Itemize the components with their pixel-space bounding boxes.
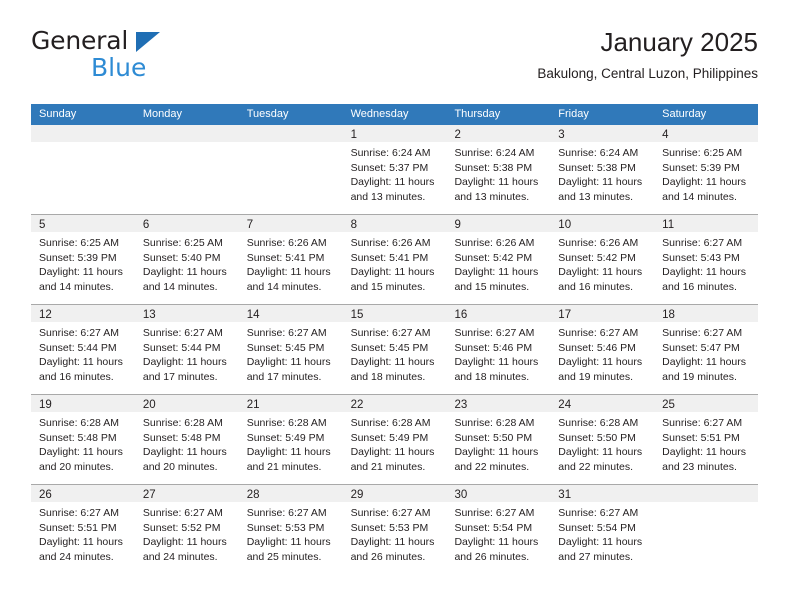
daylight-line-2: and 13 minutes.: [351, 190, 440, 205]
daylight-line-2: and 15 minutes.: [454, 280, 543, 295]
weekday-saturday: Saturday: [654, 104, 758, 125]
day-number: 1: [351, 129, 357, 141]
sunset-line: Sunset: 5:49 PM: [247, 431, 336, 446]
sunset-line: Sunset: 5:50 PM: [558, 431, 647, 446]
day-details: Sunrise: 6:28 AM Sunset: 5:50 PM Dayligh…: [550, 412, 654, 474]
daylight-line-1: Daylight: 11 hours: [662, 265, 751, 280]
calendar-grid: Sunday Monday Tuesday Wednesday Thursday…: [31, 104, 758, 574]
sunrise-line: Sunrise: 6:27 AM: [662, 236, 751, 251]
day-number: 4: [662, 129, 668, 141]
sunrise-line: Sunrise: 6:27 AM: [454, 506, 543, 521]
day-number: 14: [247, 309, 260, 321]
sunrise-line: Sunrise: 6:28 AM: [143, 416, 232, 431]
day-number-strip: 29: [343, 485, 447, 502]
calendar-page: General Blue January 2025 Bakulong, Cent…: [0, 0, 792, 612]
daylight-line-1: Daylight: 11 hours: [351, 175, 440, 190]
day-number-strip: 2: [446, 125, 550, 142]
sunrise-line: Sunrise: 6:26 AM: [351, 236, 440, 251]
day-number-strip: 10: [550, 215, 654, 232]
daylight-line-2: and 23 minutes.: [662, 460, 751, 475]
weekday-tuesday: Tuesday: [239, 104, 343, 125]
daylight-line-2: and 20 minutes.: [39, 460, 128, 475]
day-details: Sunrise: 6:27 AM Sunset: 5:46 PM Dayligh…: [550, 322, 654, 384]
day-number-strip: 28: [239, 485, 343, 502]
sunset-line: Sunset: 5:44 PM: [143, 341, 232, 356]
daylight-line-2: and 18 minutes.: [351, 370, 440, 385]
day-cell[interactable]: 30 Sunrise: 6:27 AM Sunset: 5:54 PM Dayl…: [446, 485, 550, 574]
daylight-line-2: and 16 minutes.: [662, 280, 751, 295]
weekday-wednesday: Wednesday: [343, 104, 447, 125]
sunrise-line: Sunrise: 6:27 AM: [558, 506, 647, 521]
day-cell[interactable]: 20 Sunrise: 6:28 AM Sunset: 5:48 PM Dayl…: [135, 395, 239, 484]
day-number-strip: 23: [446, 395, 550, 412]
day-cell[interactable]: 21 Sunrise: 6:28 AM Sunset: 5:49 PM Dayl…: [239, 395, 343, 484]
sunset-line: Sunset: 5:40 PM: [143, 251, 232, 266]
daylight-line-1: Daylight: 11 hours: [662, 355, 751, 370]
day-number: 24: [558, 399, 571, 411]
sunset-line: Sunset: 5:41 PM: [247, 251, 336, 266]
day-number: 18: [662, 309, 675, 321]
sunrise-line: Sunrise: 6:26 AM: [558, 236, 647, 251]
daylight-line-2: and 20 minutes.: [143, 460, 232, 475]
sunrise-line: Sunrise: 6:27 AM: [39, 506, 128, 521]
sunset-line: Sunset: 5:54 PM: [558, 521, 647, 536]
day-details: Sunrise: 6:25 AM Sunset: 5:39 PM Dayligh…: [31, 232, 135, 294]
day-details: Sunrise: 6:27 AM Sunset: 5:44 PM Dayligh…: [31, 322, 135, 384]
daylight-line-1: Daylight: 11 hours: [454, 355, 543, 370]
sunset-line: Sunset: 5:42 PM: [454, 251, 543, 266]
day-cell[interactable]: 29 Sunrise: 6:27 AM Sunset: 5:53 PM Dayl…: [343, 485, 447, 574]
daylight-line-1: Daylight: 11 hours: [558, 175, 647, 190]
daylight-line-1: Daylight: 11 hours: [143, 535, 232, 550]
day-cell[interactable]: 4 Sunrise: 6:25 AM Sunset: 5:39 PM Dayli…: [654, 125, 758, 214]
day-cell[interactable]: 18 Sunrise: 6:27 AM Sunset: 5:47 PM Dayl…: [654, 305, 758, 394]
daylight-line-2: and 14 minutes.: [662, 190, 751, 205]
day-number: 31: [558, 489, 571, 501]
day-cell[interactable]: 17 Sunrise: 6:27 AM Sunset: 5:46 PM Dayl…: [550, 305, 654, 394]
day-number: 22: [351, 399, 364, 411]
daylight-line-1: Daylight: 11 hours: [247, 265, 336, 280]
triangle-icon: [136, 32, 160, 52]
day-details: Sunrise: 6:27 AM Sunset: 5:52 PM Dayligh…: [135, 502, 239, 564]
sunset-line: Sunset: 5:38 PM: [454, 161, 543, 176]
day-cell[interactable]: 10 Sunrise: 6:26 AM Sunset: 5:42 PM Dayl…: [550, 215, 654, 304]
sunrise-line: Sunrise: 6:27 AM: [351, 326, 440, 341]
day-number-strip: 4: [654, 125, 758, 142]
daylight-line-1: Daylight: 11 hours: [143, 265, 232, 280]
day-details: Sunrise: 6:26 AM Sunset: 5:42 PM Dayligh…: [446, 232, 550, 294]
sunset-line: Sunset: 5:49 PM: [351, 431, 440, 446]
day-number: 2: [454, 129, 460, 141]
day-number-strip: 1: [343, 125, 447, 142]
day-details: Sunrise: 6:26 AM Sunset: 5:41 PM Dayligh…: [239, 232, 343, 294]
day-cell[interactable]: 22 Sunrise: 6:28 AM Sunset: 5:49 PM Dayl…: [343, 395, 447, 484]
sunset-line: Sunset: 5:46 PM: [558, 341, 647, 356]
daylight-line-2: and 19 minutes.: [662, 370, 751, 385]
day-cell[interactable]: 5 Sunrise: 6:25 AM Sunset: 5:39 PM Dayli…: [31, 215, 135, 304]
daylight-line-1: Daylight: 11 hours: [143, 445, 232, 460]
sunrise-line: Sunrise: 6:24 AM: [558, 146, 647, 161]
day-details: Sunrise: 6:24 AM Sunset: 5:38 PM Dayligh…: [550, 142, 654, 204]
sunrise-line: Sunrise: 6:28 AM: [454, 416, 543, 431]
daylight-line-2: and 18 minutes.: [454, 370, 543, 385]
day-cell[interactable]: 2 Sunrise: 6:24 AM Sunset: 5:38 PM Dayli…: [446, 125, 550, 214]
weekday-sunday: Sunday: [31, 104, 135, 125]
page-header: General Blue January 2025 Bakulong, Cent…: [31, 26, 758, 96]
day-details: Sunrise: 6:27 AM Sunset: 5:44 PM Dayligh…: [135, 322, 239, 384]
day-number: 19: [39, 399, 52, 411]
day-number-strip: [654, 485, 758, 502]
day-details: Sunrise: 6:27 AM Sunset: 5:47 PM Dayligh…: [654, 322, 758, 384]
sunrise-line: Sunrise: 6:26 AM: [454, 236, 543, 251]
day-number-strip: 27: [135, 485, 239, 502]
sunrise-line: Sunrise: 6:28 AM: [247, 416, 336, 431]
daylight-line-1: Daylight: 11 hours: [454, 445, 543, 460]
sunrise-line: Sunrise: 6:27 AM: [143, 326, 232, 341]
daylight-line-2: and 26 minutes.: [351, 550, 440, 565]
daylight-line-2: and 22 minutes.: [558, 460, 647, 475]
sunrise-line: Sunrise: 6:28 AM: [39, 416, 128, 431]
daylight-line-2: and 24 minutes.: [143, 550, 232, 565]
day-cell[interactable]: 1 Sunrise: 6:24 AM Sunset: 5:37 PM Dayli…: [343, 125, 447, 214]
day-cell[interactable]: 24 Sunrise: 6:28 AM Sunset: 5:50 PM Dayl…: [550, 395, 654, 484]
day-cell[interactable]: 9 Sunrise: 6:26 AM Sunset: 5:42 PM Dayli…: [446, 215, 550, 304]
daylight-line-1: Daylight: 11 hours: [39, 445, 128, 460]
daylight-line-2: and 13 minutes.: [454, 190, 543, 205]
day-number: 6: [143, 219, 149, 231]
day-details: Sunrise: 6:27 AM Sunset: 5:54 PM Dayligh…: [550, 502, 654, 564]
day-cell[interactable]: 27 Sunrise: 6:27 AM Sunset: 5:52 PM Dayl…: [135, 485, 239, 574]
sunrise-line: Sunrise: 6:27 AM: [39, 326, 128, 341]
day-number-strip: 13: [135, 305, 239, 322]
day-number: 26: [39, 489, 52, 501]
sunset-line: Sunset: 5:51 PM: [662, 431, 751, 446]
day-number: 3: [558, 129, 564, 141]
day-number-strip: 7: [239, 215, 343, 232]
sunset-line: Sunset: 5:48 PM: [143, 431, 232, 446]
week-row: 1 Sunrise: 6:24 AM Sunset: 5:37 PM Dayli…: [31, 125, 758, 214]
sunset-line: Sunset: 5:50 PM: [454, 431, 543, 446]
sunset-line: Sunset: 5:45 PM: [351, 341, 440, 356]
day-number: 11: [662, 219, 674, 231]
daylight-line-1: Daylight: 11 hours: [454, 535, 543, 550]
day-number: 16: [454, 309, 467, 321]
sunset-line: Sunset: 5:53 PM: [247, 521, 336, 536]
day-cell[interactable]: 19 Sunrise: 6:28 AM Sunset: 5:48 PM Dayl…: [31, 395, 135, 484]
day-number-strip: 22: [343, 395, 447, 412]
sunset-line: Sunset: 5:41 PM: [351, 251, 440, 266]
day-cell[interactable]: 12 Sunrise: 6:27 AM Sunset: 5:44 PM Dayl…: [31, 305, 135, 394]
day-cell[interactable]: [654, 485, 758, 574]
daylight-line-2: and 19 minutes.: [558, 370, 647, 385]
sunrise-line: Sunrise: 6:25 AM: [39, 236, 128, 251]
page-title: January 2025: [537, 26, 758, 58]
day-number: 8: [351, 219, 357, 231]
day-number-strip: 30: [446, 485, 550, 502]
day-number: 28: [247, 489, 260, 501]
daylight-line-2: and 21 minutes.: [351, 460, 440, 475]
week-row: 19 Sunrise: 6:28 AM Sunset: 5:48 PM Dayl…: [31, 394, 758, 484]
daylight-line-2: and 22 minutes.: [454, 460, 543, 475]
day-number-strip: 9: [446, 215, 550, 232]
day-details: Sunrise: 6:24 AM Sunset: 5:38 PM Dayligh…: [446, 142, 550, 204]
daylight-line-1: Daylight: 11 hours: [558, 355, 647, 370]
day-number-strip: 19: [31, 395, 135, 412]
sunset-line: Sunset: 5:53 PM: [351, 521, 440, 536]
day-cell[interactable]: 26 Sunrise: 6:27 AM Sunset: 5:51 PM Dayl…: [31, 485, 135, 574]
day-cell[interactable]: 13 Sunrise: 6:27 AM Sunset: 5:44 PM Dayl…: [135, 305, 239, 394]
sunrise-line: Sunrise: 6:25 AM: [143, 236, 232, 251]
day-details: Sunrise: 6:27 AM Sunset: 5:54 PM Dayligh…: [446, 502, 550, 564]
day-number: 23: [454, 399, 467, 411]
day-details: Sunrise: 6:27 AM Sunset: 5:45 PM Dayligh…: [239, 322, 343, 384]
day-details: Sunrise: 6:28 AM Sunset: 5:48 PM Dayligh…: [31, 412, 135, 474]
day-details: Sunrise: 6:27 AM Sunset: 5:53 PM Dayligh…: [239, 502, 343, 564]
day-cell[interactable]: 23 Sunrise: 6:28 AM Sunset: 5:50 PM Dayl…: [446, 395, 550, 484]
sunset-line: Sunset: 5:46 PM: [454, 341, 543, 356]
day-cell[interactable]: 7 Sunrise: 6:26 AM Sunset: 5:41 PM Dayli…: [239, 215, 343, 304]
sunrise-line: Sunrise: 6:27 AM: [454, 326, 543, 341]
daylight-line-1: Daylight: 11 hours: [351, 535, 440, 550]
sunset-line: Sunset: 5:44 PM: [39, 341, 128, 356]
daylight-line-1: Daylight: 11 hours: [247, 535, 336, 550]
day-number: 9: [454, 219, 460, 231]
daylight-line-2: and 16 minutes.: [558, 280, 647, 295]
day-cell[interactable]: 15 Sunrise: 6:27 AM Sunset: 5:45 PM Dayl…: [343, 305, 447, 394]
sunset-line: Sunset: 5:37 PM: [351, 161, 440, 176]
daylight-line-1: Daylight: 11 hours: [662, 445, 751, 460]
week-row: 26 Sunrise: 6:27 AM Sunset: 5:51 PM Dayl…: [31, 484, 758, 574]
daylight-line-2: and 15 minutes.: [351, 280, 440, 295]
day-details: Sunrise: 6:25 AM Sunset: 5:40 PM Dayligh…: [135, 232, 239, 294]
sunrise-line: Sunrise: 6:25 AM: [662, 146, 751, 161]
sunrise-line: Sunrise: 6:28 AM: [351, 416, 440, 431]
day-number: 15: [351, 309, 364, 321]
day-number: 5: [39, 219, 45, 231]
daylight-line-1: Daylight: 11 hours: [454, 265, 543, 280]
day-number-strip: 5: [31, 215, 135, 232]
day-details: Sunrise: 6:28 AM Sunset: 5:50 PM Dayligh…: [446, 412, 550, 474]
day-number: 29: [351, 489, 364, 501]
sunrise-line: Sunrise: 6:27 AM: [247, 506, 336, 521]
day-details: Sunrise: 6:27 AM Sunset: 5:51 PM Dayligh…: [654, 412, 758, 474]
day-details: Sunrise: 6:27 AM Sunset: 5:51 PM Dayligh…: [31, 502, 135, 564]
day-number-strip: 15: [343, 305, 447, 322]
daylight-line-1: Daylight: 11 hours: [351, 355, 440, 370]
day-details: Sunrise: 6:28 AM Sunset: 5:49 PM Dayligh…: [239, 412, 343, 474]
day-number-strip: 18: [654, 305, 758, 322]
daylight-line-1: Daylight: 11 hours: [39, 265, 128, 280]
daylight-line-2: and 26 minutes.: [454, 550, 543, 565]
weekday-friday: Friday: [550, 104, 654, 125]
daylight-line-2: and 25 minutes.: [247, 550, 336, 565]
day-number-strip: 26: [31, 485, 135, 502]
day-details: Sunrise: 6:28 AM Sunset: 5:49 PM Dayligh…: [343, 412, 447, 474]
daylight-line-1: Daylight: 11 hours: [662, 175, 751, 190]
weekday-header-row: Sunday Monday Tuesday Wednesday Thursday…: [31, 104, 758, 125]
sunset-line: Sunset: 5:45 PM: [247, 341, 336, 356]
daylight-line-1: Daylight: 11 hours: [558, 535, 647, 550]
day-cell[interactable]: 3 Sunrise: 6:24 AM Sunset: 5:38 PM Dayli…: [550, 125, 654, 214]
day-details: Sunrise: 6:27 AM Sunset: 5:45 PM Dayligh…: [343, 322, 447, 384]
day-number-strip: 25: [654, 395, 758, 412]
sunset-line: Sunset: 5:47 PM: [662, 341, 751, 356]
day-details: Sunrise: 6:27 AM Sunset: 5:53 PM Dayligh…: [343, 502, 447, 564]
day-cell[interactable]: [135, 125, 239, 214]
day-cell[interactable]: [31, 125, 135, 214]
day-number: 25: [662, 399, 675, 411]
sunset-line: Sunset: 5:43 PM: [662, 251, 751, 266]
sunrise-line: Sunrise: 6:27 AM: [662, 416, 751, 431]
weekday-monday: Monday: [135, 104, 239, 125]
day-number-strip: 12: [31, 305, 135, 322]
daylight-line-1: Daylight: 11 hours: [351, 445, 440, 460]
day-details: Sunrise: 6:27 AM Sunset: 5:46 PM Dayligh…: [446, 322, 550, 384]
daylight-line-2: and 16 minutes.: [39, 370, 128, 385]
day-number: 20: [143, 399, 156, 411]
day-number-strip: 8: [343, 215, 447, 232]
daylight-line-1: Daylight: 11 hours: [143, 355, 232, 370]
daylight-line-2: and 17 minutes.: [143, 370, 232, 385]
sunset-line: Sunset: 5:39 PM: [39, 251, 128, 266]
sunrise-line: Sunrise: 6:28 AM: [558, 416, 647, 431]
day-number-strip: 3: [550, 125, 654, 142]
page-subtitle: Bakulong, Central Luzon, Philippines: [537, 64, 758, 84]
week-row: 5 Sunrise: 6:25 AM Sunset: 5:39 PM Dayli…: [31, 214, 758, 304]
day-number-strip: 16: [446, 305, 550, 322]
daylight-line-2: and 24 minutes.: [39, 550, 128, 565]
day-number: 21: [247, 399, 260, 411]
daylight-line-1: Daylight: 11 hours: [558, 265, 647, 280]
day-number: 12: [39, 309, 52, 321]
day-details: Sunrise: 6:26 AM Sunset: 5:42 PM Dayligh…: [550, 232, 654, 294]
week-row: 12 Sunrise: 6:27 AM Sunset: 5:44 PM Dayl…: [31, 304, 758, 394]
generalblue-logo[interactable]: General Blue: [31, 26, 251, 86]
day-number-strip: [135, 125, 239, 142]
daylight-line-1: Daylight: 11 hours: [558, 445, 647, 460]
day-number: 30: [454, 489, 467, 501]
daylight-line-1: Daylight: 11 hours: [39, 355, 128, 370]
daylight-line-2: and 21 minutes.: [247, 460, 336, 475]
daylight-line-1: Daylight: 11 hours: [454, 175, 543, 190]
sunset-line: Sunset: 5:52 PM: [143, 521, 232, 536]
daylight-line-1: Daylight: 11 hours: [247, 445, 336, 460]
daylight-line-1: Daylight: 11 hours: [39, 535, 128, 550]
sunrise-line: Sunrise: 6:24 AM: [351, 146, 440, 161]
daylight-line-2: and 27 minutes.: [558, 550, 647, 565]
sunset-line: Sunset: 5:48 PM: [39, 431, 128, 446]
sunrise-line: Sunrise: 6:27 AM: [662, 326, 751, 341]
day-number-strip: 11: [654, 215, 758, 232]
day-details: Sunrise: 6:24 AM Sunset: 5:37 PM Dayligh…: [343, 142, 447, 204]
sunset-line: Sunset: 5:38 PM: [558, 161, 647, 176]
sunset-line: Sunset: 5:39 PM: [662, 161, 751, 176]
sunrise-line: Sunrise: 6:27 AM: [143, 506, 232, 521]
day-cell[interactable]: 25 Sunrise: 6:27 AM Sunset: 5:51 PM Dayl…: [654, 395, 758, 484]
logo-word-general: General: [31, 26, 128, 55]
day-number: 17: [558, 309, 571, 321]
sunset-line: Sunset: 5:42 PM: [558, 251, 647, 266]
day-number-strip: 20: [135, 395, 239, 412]
day-number: 13: [143, 309, 156, 321]
daylight-line-2: and 17 minutes.: [247, 370, 336, 385]
sunrise-line: Sunrise: 6:27 AM: [247, 326, 336, 341]
daylight-line-2: and 14 minutes.: [143, 280, 232, 295]
day-number-strip: 31: [550, 485, 654, 502]
sunrise-line: Sunrise: 6:27 AM: [558, 326, 647, 341]
daylight-line-2: and 13 minutes.: [558, 190, 647, 205]
day-cell[interactable]: 11 Sunrise: 6:27 AM Sunset: 5:43 PM Dayl…: [654, 215, 758, 304]
day-details: Sunrise: 6:25 AM Sunset: 5:39 PM Dayligh…: [654, 142, 758, 204]
sunrise-line: Sunrise: 6:24 AM: [454, 146, 543, 161]
day-number-strip: [239, 125, 343, 142]
day-number-strip: 6: [135, 215, 239, 232]
day-details: Sunrise: 6:26 AM Sunset: 5:41 PM Dayligh…: [343, 232, 447, 294]
sunrise-line: Sunrise: 6:26 AM: [247, 236, 336, 251]
day-number-strip: 17: [550, 305, 654, 322]
day-cell[interactable]: [239, 125, 343, 214]
day-cell[interactable]: 16 Sunrise: 6:27 AM Sunset: 5:46 PM Dayl…: [446, 305, 550, 394]
logo-word-blue: Blue: [91, 53, 146, 82]
day-number: 10: [558, 219, 571, 231]
day-number: 7: [247, 219, 253, 231]
day-number-strip: 14: [239, 305, 343, 322]
day-number-strip: [31, 125, 135, 142]
weekday-thursday: Thursday: [446, 104, 550, 125]
daylight-line-2: and 14 minutes.: [247, 280, 336, 295]
day-details: Sunrise: 6:28 AM Sunset: 5:48 PM Dayligh…: [135, 412, 239, 474]
daylight-line-2: and 14 minutes.: [39, 280, 128, 295]
sunrise-line: Sunrise: 6:27 AM: [351, 506, 440, 521]
daylight-line-1: Daylight: 11 hours: [247, 355, 336, 370]
sunset-line: Sunset: 5:51 PM: [39, 521, 128, 536]
day-cell[interactable]: 28 Sunrise: 6:27 AM Sunset: 5:53 PM Dayl…: [239, 485, 343, 574]
daylight-line-1: Daylight: 11 hours: [351, 265, 440, 280]
sunset-line: Sunset: 5:54 PM: [454, 521, 543, 536]
day-details: Sunrise: 6:27 AM Sunset: 5:43 PM Dayligh…: [654, 232, 758, 294]
day-cell[interactable]: 8 Sunrise: 6:26 AM Sunset: 5:41 PM Dayli…: [343, 215, 447, 304]
day-number-strip: 24: [550, 395, 654, 412]
day-cell[interactable]: 31 Sunrise: 6:27 AM Sunset: 5:54 PM Dayl…: [550, 485, 654, 574]
day-number: 27: [143, 489, 156, 501]
day-number-strip: 21: [239, 395, 343, 412]
title-block: January 2025 Bakulong, Central Luzon, Ph…: [537, 26, 758, 84]
day-cell[interactable]: 6 Sunrise: 6:25 AM Sunset: 5:40 PM Dayli…: [135, 215, 239, 304]
day-cell[interactable]: 14 Sunrise: 6:27 AM Sunset: 5:45 PM Dayl…: [239, 305, 343, 394]
